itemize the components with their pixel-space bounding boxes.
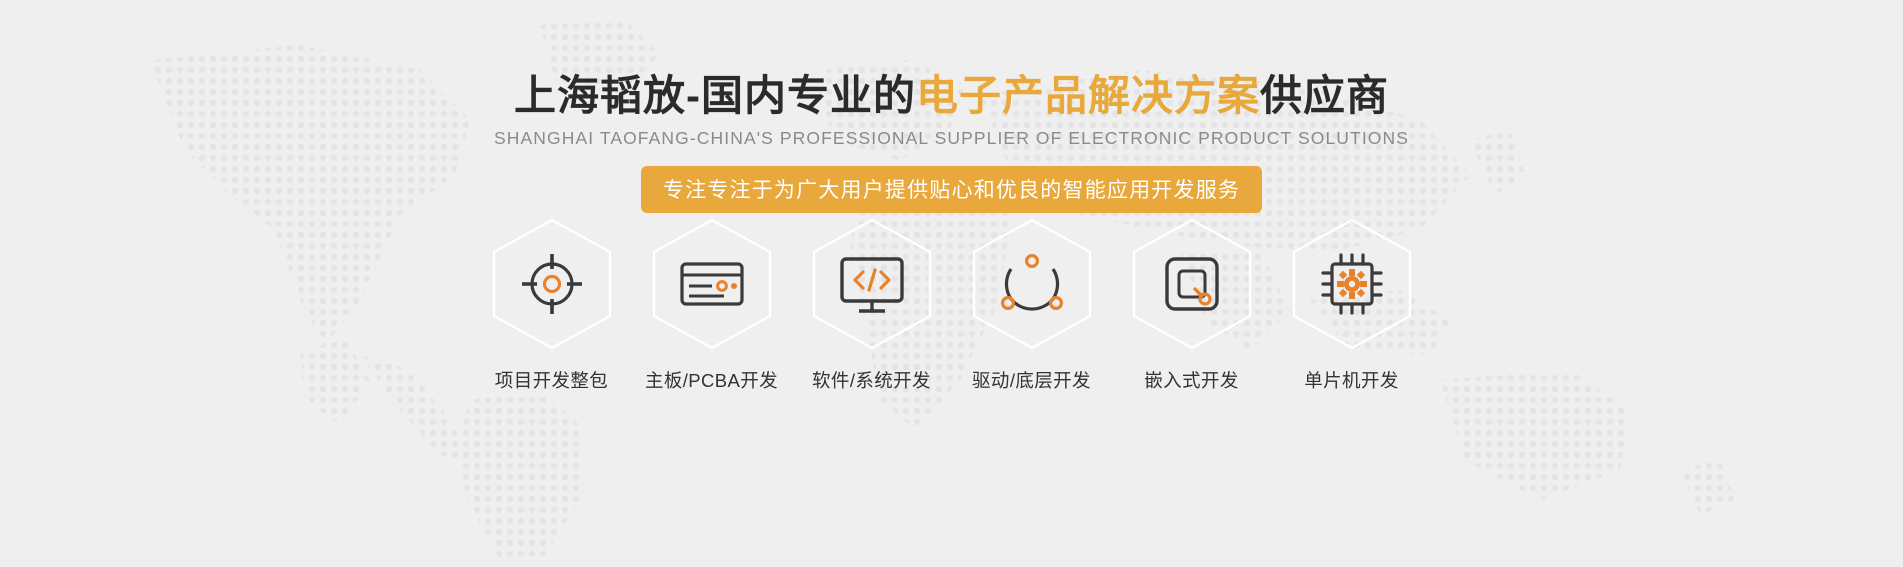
- service-label: 主板/PCBA开发: [645, 367, 778, 393]
- page-title: 上海韬放-国内专业的电子产品解决方案供应商: [0, 72, 1903, 119]
- hexagon-frame-2: [652, 218, 772, 350]
- service-label: 软件/系统开发: [812, 367, 931, 393]
- hexagon-frame-4: [972, 218, 1092, 350]
- tagline-badge: 专注专注于为广大用户提供贴心和优良的智能应用开发服务: [641, 166, 1262, 213]
- service-item-driver[interactable]: 驱动/底层开发: [972, 218, 1092, 393]
- service-item-project-package[interactable]: 项目开发整包: [492, 218, 612, 393]
- hexagon-frame-1: [492, 218, 612, 350]
- hexagon-frame-5: [1132, 218, 1252, 350]
- code-monitor-icon: [839, 251, 905, 317]
- service-list: 项目开发整包 主板/PCBA开发: [0, 218, 1903, 393]
- service-label: 驱动/底层开发: [972, 367, 1091, 393]
- hexagon-frame-6: [1292, 218, 1412, 350]
- headline-part-1: 上海韬放-国内专业的: [514, 72, 916, 119]
- target-crosshair-icon: [519, 251, 585, 317]
- service-label: 项目开发整包: [495, 367, 608, 393]
- hexagon-frame-3: [812, 218, 932, 350]
- badge-wrapper: 专注专注于为广大用户提供贴心和优良的智能应用开发服务: [0, 166, 1903, 213]
- subtitle-english: SHANGHAI TAOFANG-CHINA'S PROFESSIONAL SU…: [0, 128, 1903, 149]
- hero-banner: 上海韬放-国内专业的电子产品解决方案供应商 SHANGHAI TAOFANG-C…: [0, 0, 1903, 567]
- hero-text-block: 上海韬放-国内专业的电子产品解决方案供应商 SHANGHAI TAOFANG-C…: [0, 72, 1903, 213]
- microcontroller-gear-icon: [1319, 251, 1385, 317]
- service-item-pcba[interactable]: 主板/PCBA开发: [652, 218, 772, 393]
- network-nodes-icon: [999, 251, 1065, 317]
- embedded-chip-link-icon: [1159, 251, 1225, 317]
- service-label: 单片机开发: [1304, 367, 1399, 393]
- service-item-mcu[interactable]: 单片机开发: [1292, 218, 1412, 393]
- service-item-software[interactable]: 软件/系统开发: [812, 218, 932, 393]
- circuit-board-icon: [679, 251, 745, 317]
- service-item-embedded[interactable]: 嵌入式开发: [1132, 218, 1252, 393]
- headline-part-2: 供应商: [1260, 72, 1389, 119]
- headline-accent: 电子产品解决方案: [916, 72, 1260, 119]
- service-label: 嵌入式开发: [1144, 367, 1239, 393]
